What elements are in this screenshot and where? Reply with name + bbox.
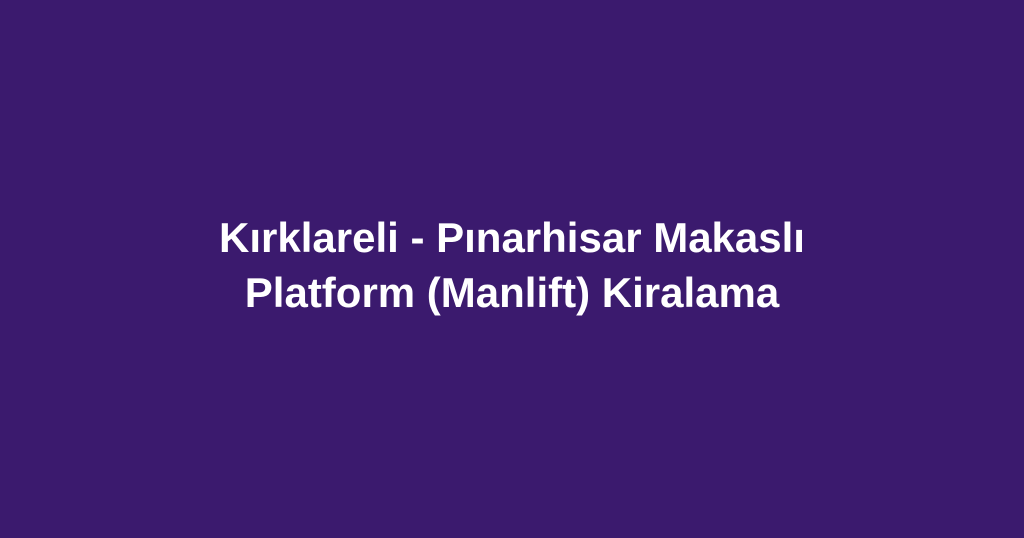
share-card: Kırklareli - Pınarhisar Makaslı Platform…: [0, 0, 1024, 538]
page-title: Kırklareli - Pınarhisar Makaslı Platform…: [162, 210, 862, 320]
page-title-line-2: Platform (Manlift) Kiralama: [162, 265, 862, 320]
page-title-line-1: Kırklareli - Pınarhisar Makaslı: [162, 210, 862, 265]
